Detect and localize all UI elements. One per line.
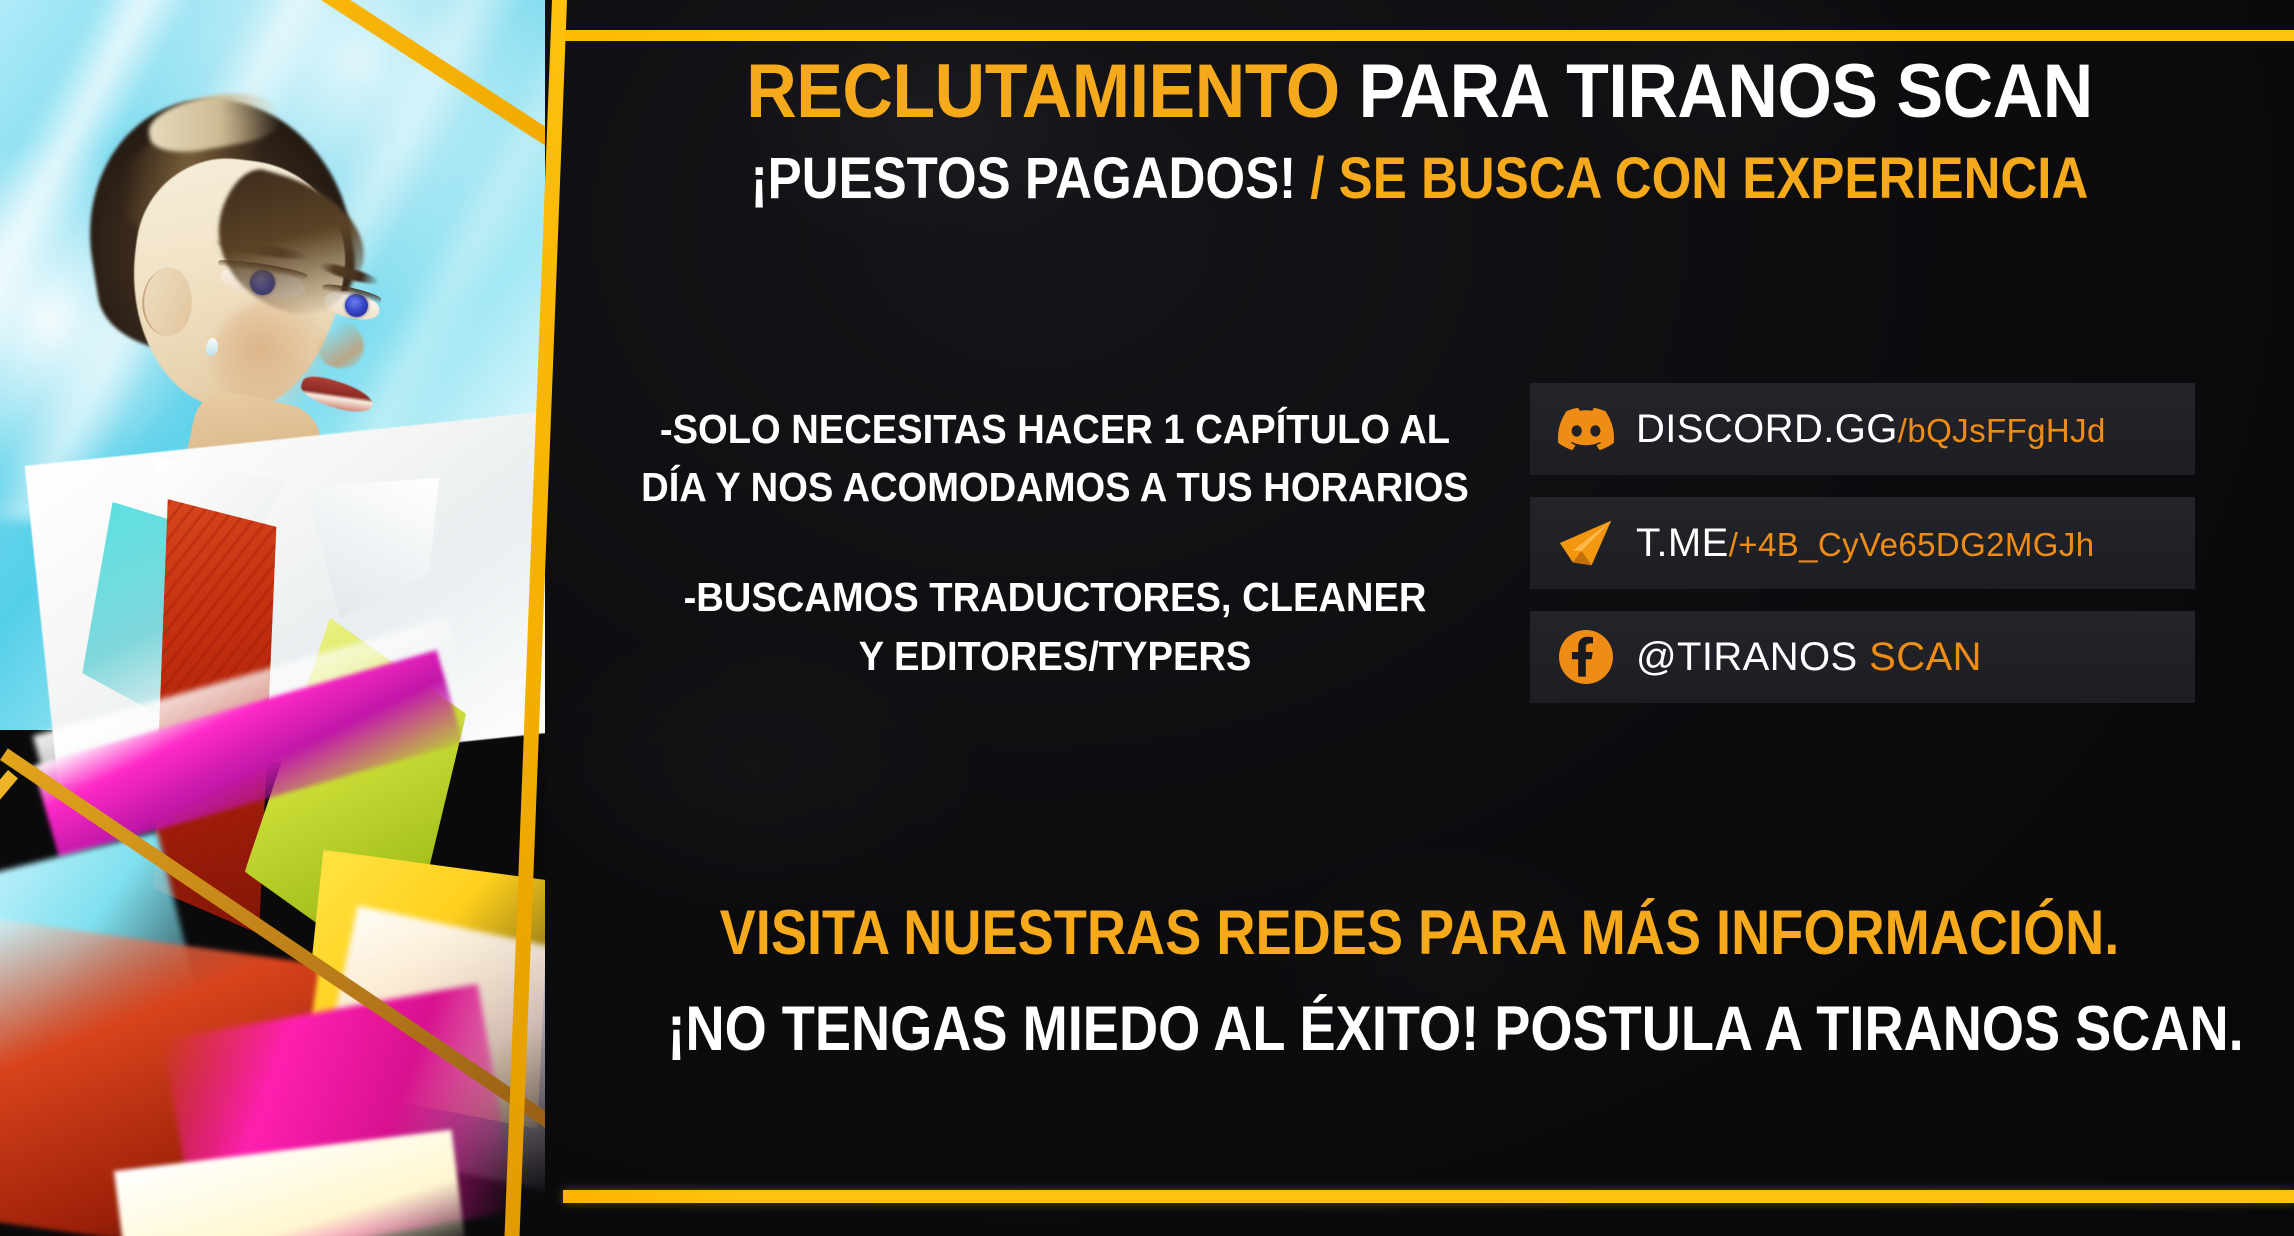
gold-bar-bottom xyxy=(563,1190,2294,1203)
call-to-action: VISITA NUESTRAS REDES PARA MÁS INFORMACI… xyxy=(545,900,2294,1062)
bullet1-line1: -SOLO NECESITAS HACER 1 CAPÍTULO AL xyxy=(637,400,1474,458)
page-subtitle: ¡PUESTOS PAGADOS! / SE BUSCA CON EXPERIE… xyxy=(650,150,2189,208)
bullet2-line1: -BUSCAMOS TRADUCTORES, CLEANER xyxy=(637,568,1474,626)
telegram-link-text: T.ME/+4B_CyVe65DG2MGJh xyxy=(1636,521,2095,566)
bullet1-line2: DÍA Y NOS ACOMODAMOS A TUS HORARIOS xyxy=(637,458,1474,516)
gold-bar-top xyxy=(563,30,2294,41)
telegram-icon xyxy=(1558,515,1614,571)
content-panel: RECLUTAMIENTO PARA TIRANOS SCAN ¡PUESTOS… xyxy=(545,0,2294,1236)
contact-discord[interactable]: DISCORD.GG/bQJsFFgHJd xyxy=(1530,383,2195,475)
requirement-item-schedule: -SOLO NECESITAS HACER 1 CAPÍTULO AL DÍA … xyxy=(637,400,1474,516)
cta-line-2: ¡NO TENGAS MIEDO AL ÉXITO! POSTULA A TIR… xyxy=(667,996,2171,1062)
telegram-domain: T.ME xyxy=(1636,521,1729,565)
headline-white-text: PARA TIRANOS SCAN xyxy=(1359,49,2093,134)
contact-facebook[interactable]: @TIRANOS SCAN xyxy=(1530,611,2195,703)
discord-link-text: DISCORD.GG/bQJsFFgHJd xyxy=(1636,407,2106,452)
facebook-handle: @TIRANOS xyxy=(1636,635,1858,679)
discord-domain: DISCORD.GG xyxy=(1636,407,1898,451)
cta-line-1: VISITA NUESTRAS REDES PARA MÁS INFORMACI… xyxy=(667,900,2171,966)
telegram-invite-code: /+4B_CyVe65DG2MGJh xyxy=(1729,526,2095,563)
bullet2-line2: Y EDITORES/TYPERS xyxy=(637,627,1474,685)
requirement-item-roles: -BUSCAMOS TRADUCTORES, CLEANER Y EDITORE… xyxy=(637,568,1474,684)
discord-icon xyxy=(1558,401,1614,457)
contact-telegram[interactable]: T.ME/+4B_CyVe65DG2MGJh xyxy=(1530,497,2195,589)
requirements-list: -SOLO NECESITAS HACER 1 CAPÍTULO AL DÍA … xyxy=(637,400,1474,685)
recruitment-banner: RECLUTAMIENTO PARA TIRANOS SCAN ¡PUESTOS… xyxy=(0,0,2294,1236)
contact-links-group: DISCORD.GG/bQJsFFgHJd T.ME/+4B_CyVe65DG2… xyxy=(1530,383,2195,703)
character-artwork-panel xyxy=(0,0,545,1236)
facebook-handle-suffix: SCAN xyxy=(1858,635,1982,679)
page-title: RECLUTAMIENTO PARA TIRANOS SCAN xyxy=(615,54,2224,130)
discord-invite-code: /bQJsFFgHJd xyxy=(1898,412,2106,449)
facebook-icon xyxy=(1558,629,1614,685)
headline-gold-text: RECLUTAMIENTO xyxy=(746,49,1340,134)
subtitle-paid-text: ¡PUESTOS PAGADOS! xyxy=(751,146,1296,211)
facebook-link-text: @TIRANOS SCAN xyxy=(1636,635,1982,680)
subtitle-experience-text: / SE BUSCA CON EXPERIENCIA xyxy=(1310,146,2088,211)
